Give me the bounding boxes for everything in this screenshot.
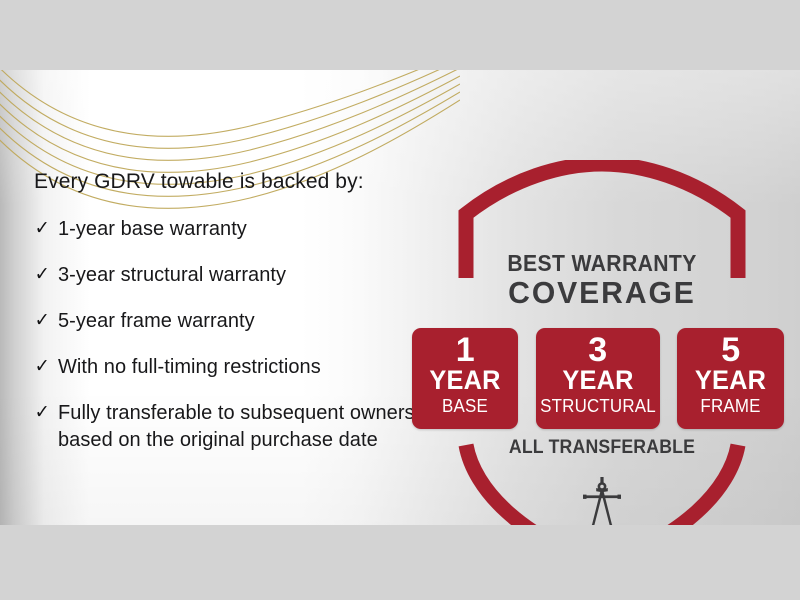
coverage-unit: YEAR (415, 367, 515, 394)
list-item: ✓ With no full-timing restrictions (34, 354, 434, 381)
content-panel: Every GDRV towable is backed by: ✓ 1-yea… (0, 70, 800, 525)
page-title: Every GDRV towable is backed by: (34, 170, 434, 194)
coverage-box-frame[interactable]: 5 YEAR FRAME (677, 328, 784, 429)
check-icon: ✓ (35, 308, 58, 334)
coverage-unit: YEAR (539, 367, 656, 394)
check-icon: ✓ (35, 400, 58, 426)
list-item-label: 5-year frame warranty (58, 308, 255, 335)
coverage-box-base[interactable]: 1 YEAR BASE (412, 328, 518, 429)
coverage-kind: BASE (415, 394, 515, 417)
coverage-number: 1 (412, 334, 518, 367)
list-item-label: Fully transferable to subsequent owners … (58, 400, 434, 454)
coverage-box-structural[interactable]: 3 YEAR STRUCTURAL (536, 328, 660, 429)
list-item: ✓ 1-year base warranty (34, 216, 434, 243)
list-item: ✓ 3-year structural warranty (34, 262, 434, 289)
slide-canvas: Every GDRV towable is backed by: ✓ 1-yea… (0, 0, 800, 600)
check-icon: ✓ (35, 216, 58, 242)
check-icon: ✓ (35, 262, 58, 288)
list-item: ✓ 5-year frame warranty (34, 308, 434, 335)
list-item: ✓ Fully transferable to subsequent owner… (34, 400, 434, 454)
badge-footer-text: ALL TRANSFERABLE (463, 437, 742, 459)
coverage-kind: FRAME (680, 394, 781, 417)
coverage-kind: STRUCTURAL (539, 394, 656, 417)
badge-title: BEST WARRANTY COVERAGE (452, 251, 752, 310)
coverage-unit: YEAR (680, 367, 781, 394)
list-item-label: With no full-timing restrictions (58, 354, 321, 381)
warranty-copy-block: Every GDRV towable is backed by: ✓ 1-yea… (34, 170, 434, 473)
list-item-label: 3-year structural warranty (58, 262, 286, 289)
list-item-label: 1-year base warranty (58, 216, 247, 243)
warranty-badge: BEST WARRANTY COVERAGE 1 YEAR BASE 3 YEA… (452, 160, 752, 525)
check-icon: ✓ (35, 354, 58, 380)
badge-title-line1: BEST WARRANTY (464, 251, 740, 276)
coverage-box-group: 1 YEAR BASE 3 YEAR STRUCTURAL 5 YEAR FRA… (412, 328, 784, 429)
coverage-number: 3 (536, 334, 660, 367)
drafting-compass-icon (579, 475, 625, 525)
coverage-number: 5 (677, 334, 784, 367)
badge-title-line2: COVERAGE (457, 276, 748, 310)
